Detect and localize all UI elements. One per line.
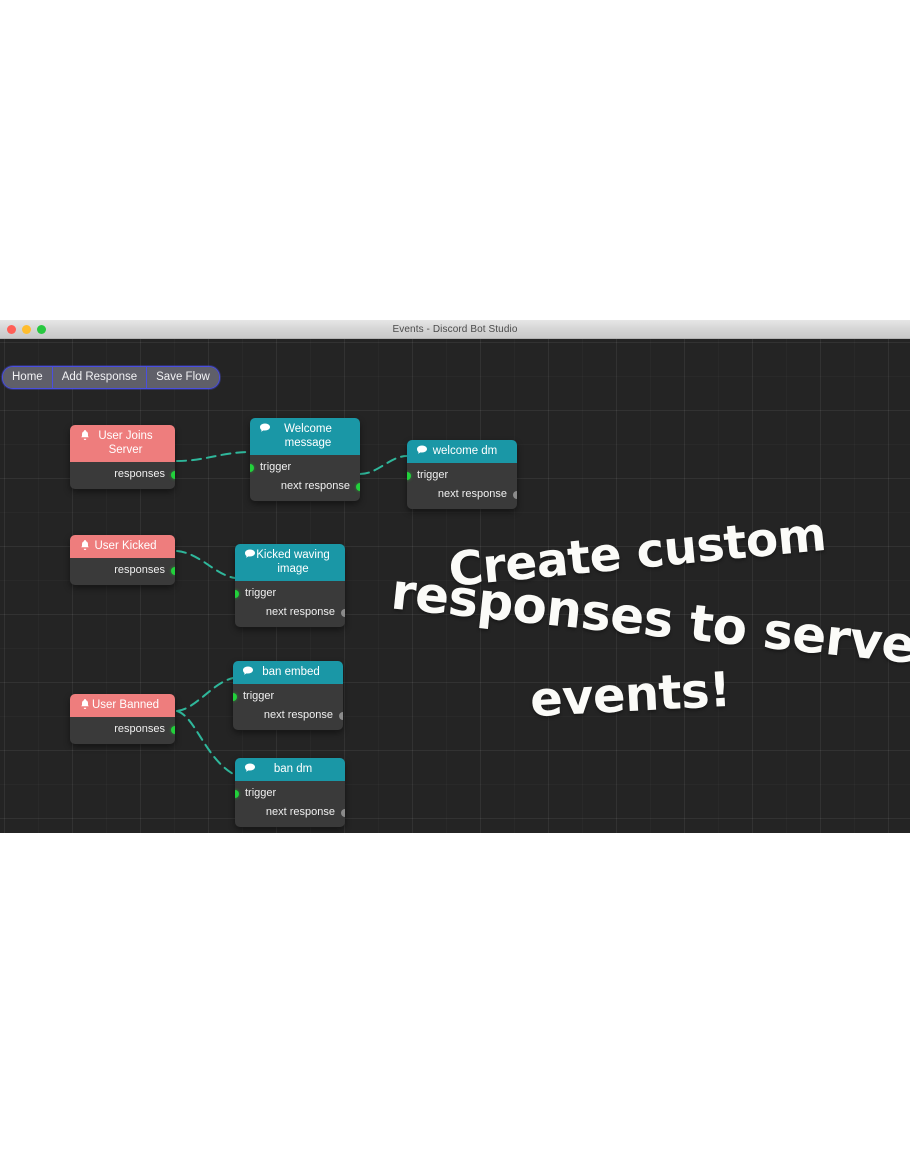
bell-icon [79, 429, 91, 441]
node-ban-dm[interactable]: ban dm trigger next response [235, 758, 345, 827]
port-row[interactable]: next response [233, 706, 343, 725]
edge-welcome-message-to-welcome-dm [360, 456, 407, 474]
port-label: next response [438, 488, 507, 500]
chat-bubble-icon [259, 422, 271, 434]
port-dot-next-response[interactable] [513, 491, 517, 499]
port-row[interactable]: responses [70, 561, 175, 580]
node-user-banned[interactable]: User Banned responses [70, 694, 175, 744]
port-label: trigger [245, 587, 276, 599]
port-row[interactable]: next response [235, 803, 345, 822]
connection-edges [0, 339, 910, 833]
node-header: ban embed [233, 661, 343, 684]
add-response-button[interactable]: Add Response [53, 367, 147, 388]
node-welcome-message[interactable]: Welcome message trigger next response [250, 418, 360, 501]
node-header: User Banned [70, 694, 175, 717]
node-title: User Kicked [85, 539, 161, 553]
port-row[interactable]: responses [70, 465, 175, 484]
edge-banned-to-ban-embed [177, 678, 233, 711]
chat-bubble-icon [244, 762, 256, 774]
edge-kicked-to-kicked-image [177, 551, 235, 578]
app-window: Events - Discord Bot Studio Home Add Res… [0, 320, 910, 833]
node-title: ban embed [252, 665, 324, 679]
port-row[interactable]: next response [407, 485, 517, 504]
port-row[interactable]: trigger [250, 458, 360, 477]
chat-bubble-icon [244, 548, 256, 560]
save-flow-button[interactable]: Save Flow [147, 367, 219, 388]
caption-line-2: responses to server [388, 562, 910, 677]
port-label: responses [114, 723, 165, 735]
node-body: responses [70, 462, 175, 489]
port-row[interactable]: next response [250, 477, 360, 496]
port-dot-trigger[interactable] [407, 472, 411, 480]
edge-banned-to-ban-dm [177, 711, 235, 775]
bell-icon [79, 539, 91, 551]
port-dot-responses[interactable] [171, 567, 175, 575]
node-body: trigger next response [233, 684, 343, 730]
window-title: Events - Discord Bot Studio [0, 320, 910, 339]
node-body: trigger next response [235, 581, 345, 627]
port-label: next response [266, 606, 335, 618]
port-label: trigger [245, 787, 276, 799]
flow-canvas[interactable]: Home Add Response Save Flow User Joins S… [0, 339, 910, 833]
home-button[interactable]: Home [3, 367, 53, 388]
port-dot-next-response[interactable] [341, 609, 345, 617]
node-body: responses [70, 717, 175, 744]
port-label: next response [266, 806, 335, 818]
node-header: Kicked waving image [235, 544, 345, 581]
node-header: ban dm [235, 758, 345, 781]
port-dot-trigger[interactable] [235, 590, 239, 598]
bell-icon [79, 698, 91, 710]
node-body: trigger next response [250, 455, 360, 501]
node-title: Kicked waving image [243, 548, 337, 576]
port-row[interactable]: responses [70, 720, 175, 739]
port-dot-responses[interactable] [171, 471, 175, 479]
node-ban-embed[interactable]: ban embed trigger next response [233, 661, 343, 730]
port-dot-trigger[interactable] [235, 790, 239, 798]
port-label: trigger [417, 469, 448, 481]
node-header: welcome dm [407, 440, 517, 463]
port-label: trigger [243, 690, 274, 702]
node-title: ban dm [264, 762, 316, 776]
window-title-bar: Events - Discord Bot Studio [0, 320, 910, 339]
node-title: User Joins Server [78, 429, 167, 457]
chat-bubble-icon [242, 665, 254, 677]
port-dot-next-response[interactable] [339, 712, 343, 720]
port-dot-next-response[interactable] [341, 809, 345, 817]
port-row[interactable]: trigger [235, 584, 345, 603]
node-user-joins-server[interactable]: User Joins Server responses [70, 425, 175, 489]
port-label: next response [281, 480, 350, 492]
toolbar: Home Add Response Save Flow [2, 366, 220, 389]
port-dot-trigger[interactable] [233, 693, 237, 701]
node-header: User Kicked [70, 535, 175, 558]
port-row[interactable]: trigger [235, 784, 345, 803]
port-dot-responses[interactable] [171, 726, 175, 734]
port-row[interactable]: next response [235, 603, 345, 622]
node-title: User Banned [82, 698, 163, 712]
chat-bubble-icon [416, 444, 428, 456]
port-dot-next-response[interactable] [356, 483, 360, 491]
node-user-kicked[interactable]: User Kicked responses [70, 535, 175, 585]
node-title: Welcome message [258, 422, 352, 450]
caption-line-3: events! [529, 662, 732, 728]
caption-line-1: Create custom [446, 507, 828, 598]
node-kicked-waving-image[interactable]: Kicked waving image trigger next respons… [235, 544, 345, 627]
port-label: trigger [260, 461, 291, 473]
node-body: trigger next response [235, 781, 345, 827]
node-title: welcome dm [423, 444, 502, 458]
port-label: next response [264, 709, 333, 721]
port-dot-trigger[interactable] [250, 464, 254, 472]
node-header: Welcome message [250, 418, 360, 455]
node-body: trigger next response [407, 463, 517, 509]
port-label: responses [114, 564, 165, 576]
edge-joins-to-welcome-message [177, 452, 250, 461]
node-body: responses [70, 558, 175, 585]
port-label: responses [114, 468, 165, 480]
port-row[interactable]: trigger [407, 466, 517, 485]
node-header: User Joins Server [70, 425, 175, 462]
node-welcome-dm[interactable]: welcome dm trigger next response [407, 440, 517, 509]
port-row[interactable]: trigger [233, 687, 343, 706]
caption-overlay: Create custom responses to server events… [390, 519, 910, 749]
